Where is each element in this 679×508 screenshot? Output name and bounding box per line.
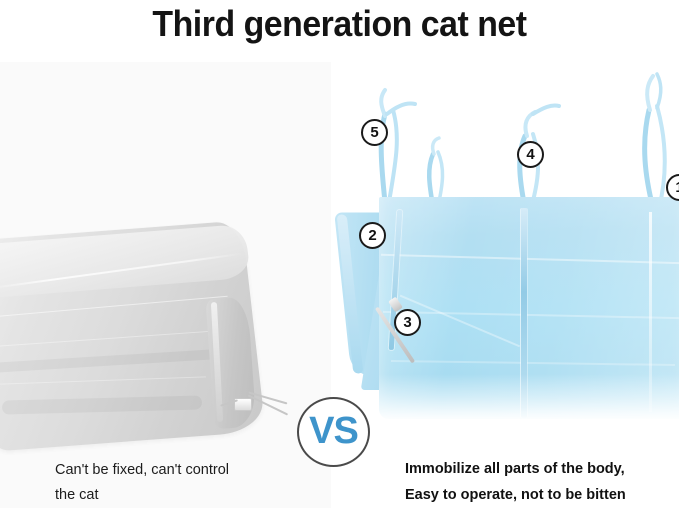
gray-mesh-cat-bag-image [0,230,282,470]
left-caption-line: Can't be fixed, can't control [55,458,300,483]
product-comparison-image: Third generation cat net [0,0,679,508]
versus-badge: VS [297,397,370,467]
callout-badge-4[interactable]: 4 [517,141,544,168]
page-title: Third generation cat net [20,2,658,46]
left-product-panel [0,62,331,508]
right-caption-line: Immobilize all parts of the body, [405,456,675,482]
gray-bag-drawstring [220,388,290,436]
left-caption: Can't be fixed, can't control the cat [55,458,300,508]
callout-badge-5[interactable]: 5 [361,119,388,146]
shoulder-strap [417,134,457,206]
right-caption: Immobilize all parts of the body, Easy t… [405,456,675,508]
versus-label: VS [309,412,358,450]
net-bottom-fade [379,374,679,422]
right-caption-line: Easy to operate, not to be bitten [405,482,675,508]
left-caption-line: the cat [55,483,300,508]
callout-badge-3[interactable]: 3 [394,309,421,336]
callout-badge-2[interactable]: 2 [359,222,386,249]
